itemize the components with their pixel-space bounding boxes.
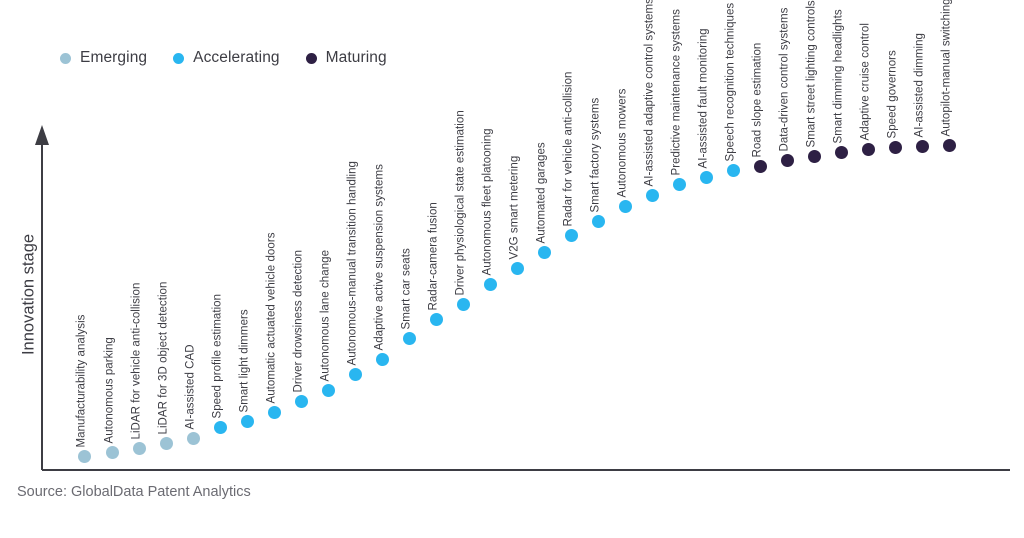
chart-canvas: EmergingAcceleratingMaturing Innovation … — [0, 0, 1024, 538]
point-label: Autonomous parking — [105, 337, 117, 443]
point-label: Road slope estimation — [753, 42, 765, 157]
point-dot-icon[interactable] — [700, 171, 713, 184]
point-dot-icon[interactable] — [511, 262, 524, 275]
point-dot-icon[interactable] — [646, 189, 659, 202]
point-dot-icon[interactable] — [565, 229, 578, 242]
point-dot-icon[interactable] — [727, 164, 740, 177]
point-label: Speed profile estimation — [213, 293, 225, 418]
point-label: Smart light dimmers — [240, 309, 252, 412]
point-label: Smart factory systems — [591, 97, 603, 212]
point-label: AI-assisted dimming — [915, 33, 927, 137]
point-dot-icon[interactable] — [538, 246, 551, 259]
source-note: Source: GlobalData Patent Analytics — [17, 484, 251, 500]
point-label: Adaptive active suspension systems — [375, 164, 387, 350]
point-label: Autonomous fleet platooning — [483, 128, 495, 275]
point-label: Automatic actuated vehicle doors — [267, 232, 279, 403]
point-label: AI-assisted adaptive control systems — [645, 0, 657, 186]
point-label: Radar for vehicle anti-collision — [564, 71, 576, 226]
point-dot-icon[interactable] — [619, 200, 632, 213]
point-label: Autonomous lane change — [321, 249, 333, 381]
point-dot-icon[interactable] — [916, 140, 929, 153]
point-label: Data-driven control systems — [780, 7, 792, 151]
point-label: Autopilot-manual switching — [942, 0, 954, 136]
point-dot-icon[interactable] — [430, 313, 443, 326]
point-label: Automated garages — [537, 142, 549, 243]
point-dot-icon[interactable] — [808, 150, 821, 163]
point-dot-icon[interactable] — [78, 450, 91, 463]
point-dot-icon[interactable] — [187, 432, 200, 445]
point-label: Smart street lighting controls — [807, 0, 819, 147]
point-dot-icon[interactable] — [835, 146, 848, 159]
point-dot-icon[interactable] — [403, 332, 416, 345]
point-dot-icon[interactable] — [295, 395, 308, 408]
point-dot-icon[interactable] — [781, 154, 794, 167]
point-label: Speech recognition techniques — [726, 2, 738, 161]
point-label: LiDAR for vehicle anti-collision — [132, 282, 144, 439]
point-label: Predictive maintenance systems — [672, 9, 684, 175]
point-dot-icon[interactable] — [754, 160, 767, 173]
point-dot-icon[interactable] — [457, 298, 470, 311]
point-label: Smart dimming headlights — [834, 9, 846, 143]
point-dot-icon[interactable] — [349, 368, 362, 381]
point-label: LiDAR for 3D object detection — [159, 281, 171, 434]
point-dot-icon[interactable] — [592, 215, 605, 228]
point-label: Autonomous mowers — [618, 88, 630, 197]
point-label: Adaptive cruise control — [861, 23, 873, 141]
point-dot-icon[interactable] — [862, 143, 875, 156]
point-label: Manufacturability analysis — [77, 314, 89, 447]
point-label: AI-assisted fault monitoring — [699, 28, 711, 168]
point-dot-icon[interactable] — [484, 278, 497, 291]
point-dot-icon[interactable] — [673, 178, 686, 191]
point-dot-icon[interactable] — [160, 437, 173, 450]
point-label: V2G smart metering — [510, 155, 522, 259]
point-dot-icon[interactable] — [376, 353, 389, 366]
point-label: Radar-camera fusion — [429, 202, 441, 310]
point-label: Driver physiological state estimation — [456, 110, 468, 295]
point-dot-icon[interactable] — [322, 384, 335, 397]
point-dot-icon[interactable] — [943, 139, 956, 152]
point-label: Smart car seats — [402, 248, 414, 329]
point-dot-icon[interactable] — [889, 141, 902, 154]
point-dot-icon[interactable] — [106, 446, 119, 459]
point-label: Driver drowsiness detection — [294, 249, 306, 392]
point-label: Autonomous-manual transition handling — [348, 160, 360, 365]
point-label: AI-assisted CAD — [186, 344, 198, 429]
point-dot-icon[interactable] — [241, 415, 254, 428]
point-dot-icon[interactable] — [268, 406, 281, 419]
point-label: Speed governors — [888, 50, 900, 138]
scatter-points: Manufacturability analysisAutonomous par… — [0, 0, 1024, 538]
point-dot-icon[interactable] — [133, 442, 146, 455]
point-dot-icon[interactable] — [214, 421, 227, 434]
